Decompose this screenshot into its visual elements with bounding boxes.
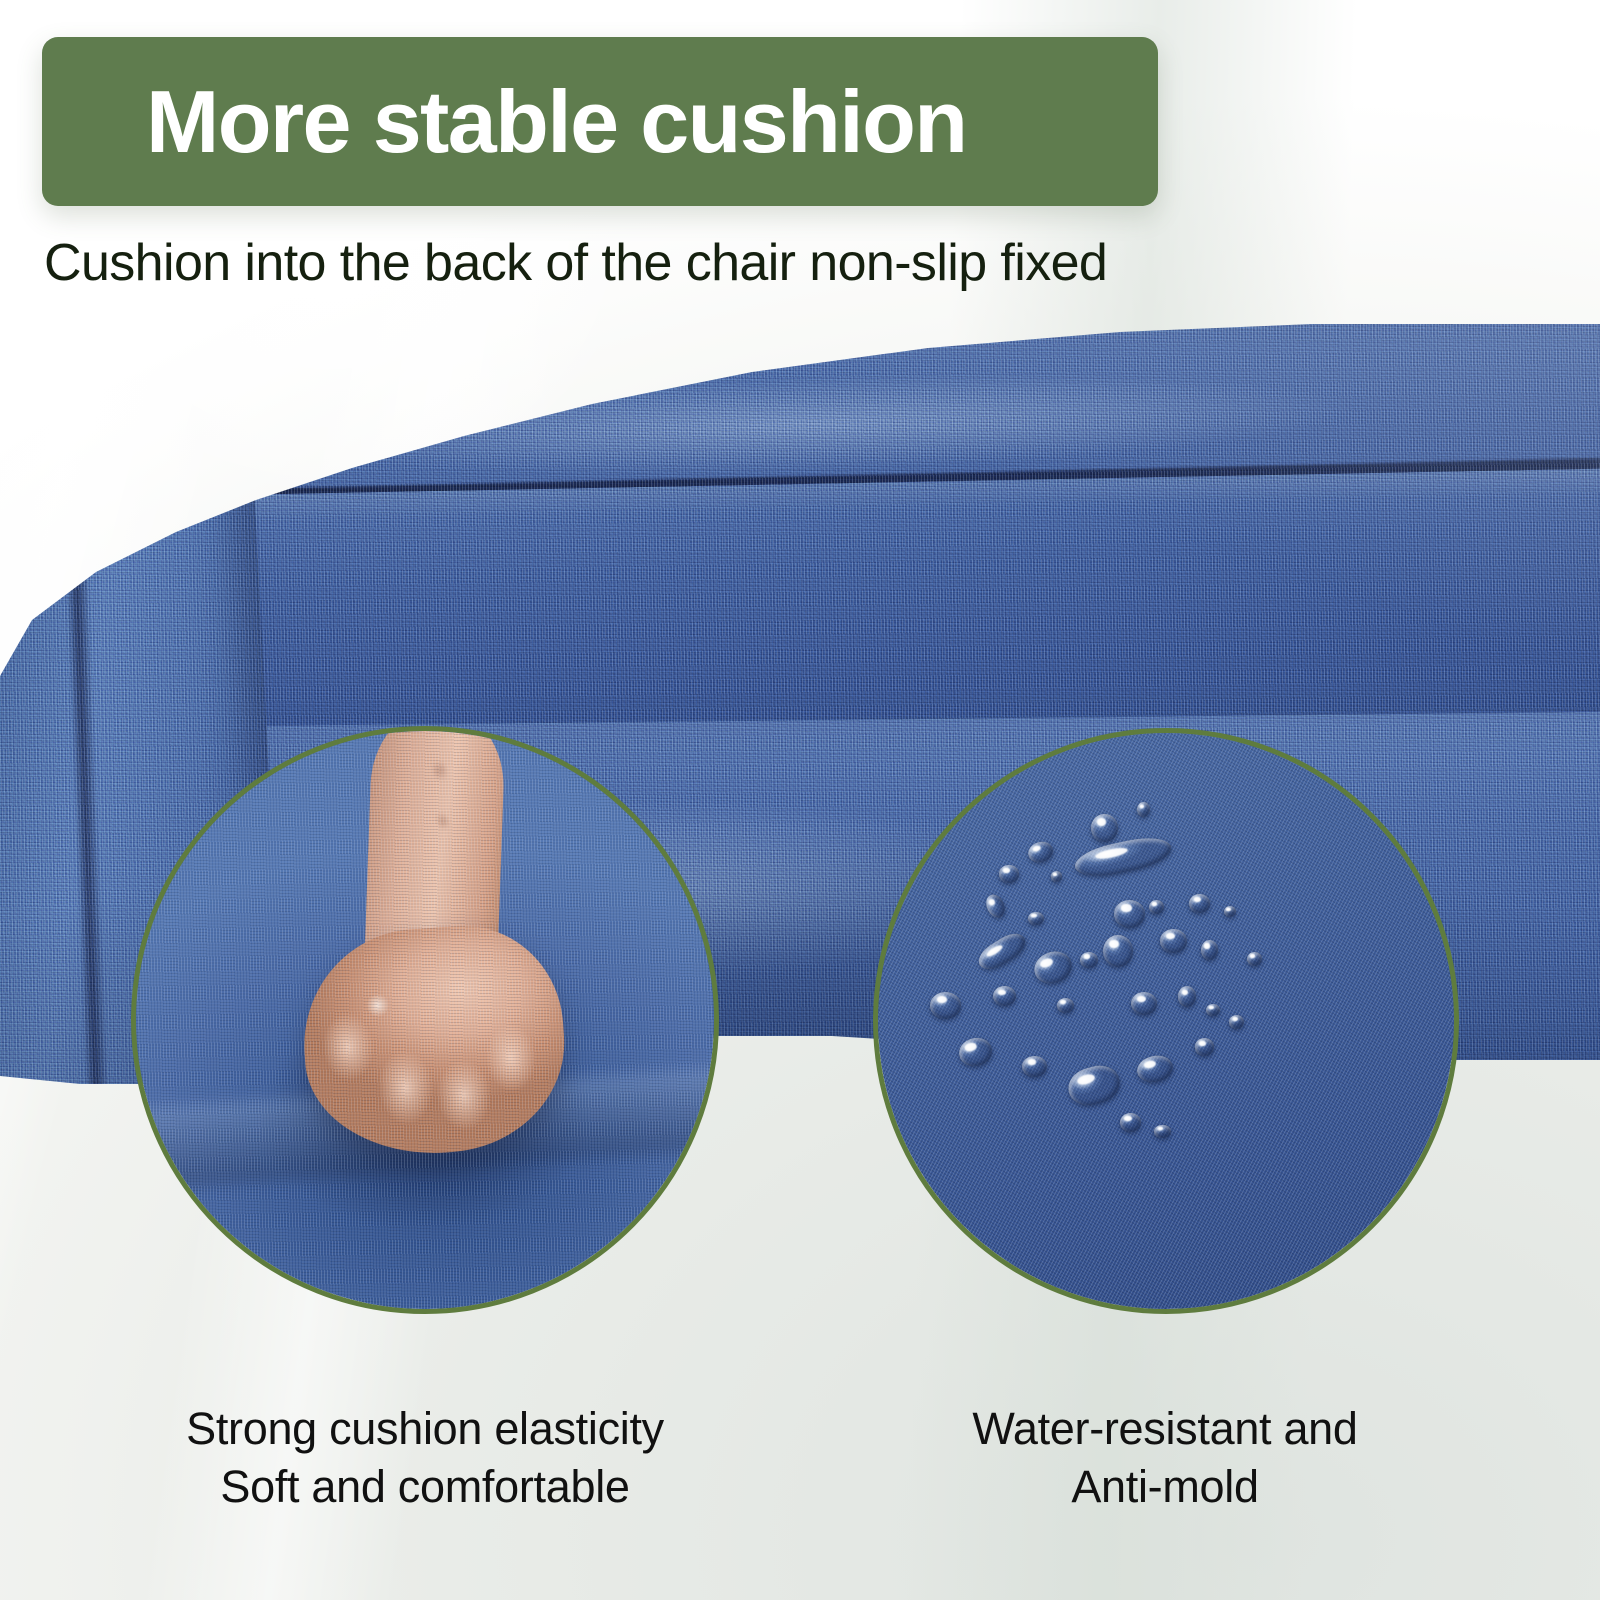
callout-water-resistant <box>873 728 1459 1314</box>
vein <box>432 759 449 783</box>
water-droplet <box>1091 814 1117 843</box>
water-droplet <box>1131 992 1156 1015</box>
caption-water-resistant: Water-resistant and Anti-mold <box>835 1400 1495 1515</box>
water-droplet <box>1195 1038 1215 1055</box>
product-feature-graphic: More stable cushion Cushion into the bac… <box>0 0 1600 1600</box>
water-droplet <box>1028 912 1044 926</box>
vein <box>434 810 451 831</box>
caption-line: Anti-mold <box>835 1458 1495 1516</box>
caption-line: Strong cushion elasticity <box>60 1400 790 1458</box>
water-droplet <box>1160 929 1186 953</box>
thumb-tip <box>362 989 393 1020</box>
callout-elasticity <box>131 726 719 1314</box>
water-droplet <box>999 865 1019 882</box>
water-droplet <box>1137 802 1150 817</box>
water-droplet <box>1189 894 1210 912</box>
caption-line: Soft and comfortable <box>60 1458 790 1516</box>
water-droplet <box>1247 952 1262 966</box>
caption-elasticity: Strong cushion elasticity Soft and comfo… <box>60 1400 790 1515</box>
subtitle: Cushion into the back of the chair non-s… <box>44 233 1107 293</box>
water-droplet <box>1120 1113 1141 1131</box>
water-droplet <box>1057 998 1074 1013</box>
water-droplet <box>1178 986 1196 1007</box>
water-droplet <box>1154 1125 1170 1139</box>
water-droplet <box>1201 940 1218 960</box>
callout-elasticity-image <box>136 731 714 1309</box>
water-droplet <box>1051 871 1063 881</box>
water-droplet <box>1103 935 1133 967</box>
water-droplet <box>1149 900 1164 914</box>
header-banner: More stable cushion <box>42 37 1158 206</box>
callout-fabric-weave <box>878 733 1454 1309</box>
water-droplet <box>1114 900 1145 928</box>
callout-water-resistant-image <box>878 733 1454 1309</box>
caption-line: Water-resistant and <box>835 1400 1495 1458</box>
banner-title: More stable cushion <box>146 78 966 166</box>
water-droplet <box>1080 952 1098 968</box>
water-droplet <box>930 992 961 1018</box>
